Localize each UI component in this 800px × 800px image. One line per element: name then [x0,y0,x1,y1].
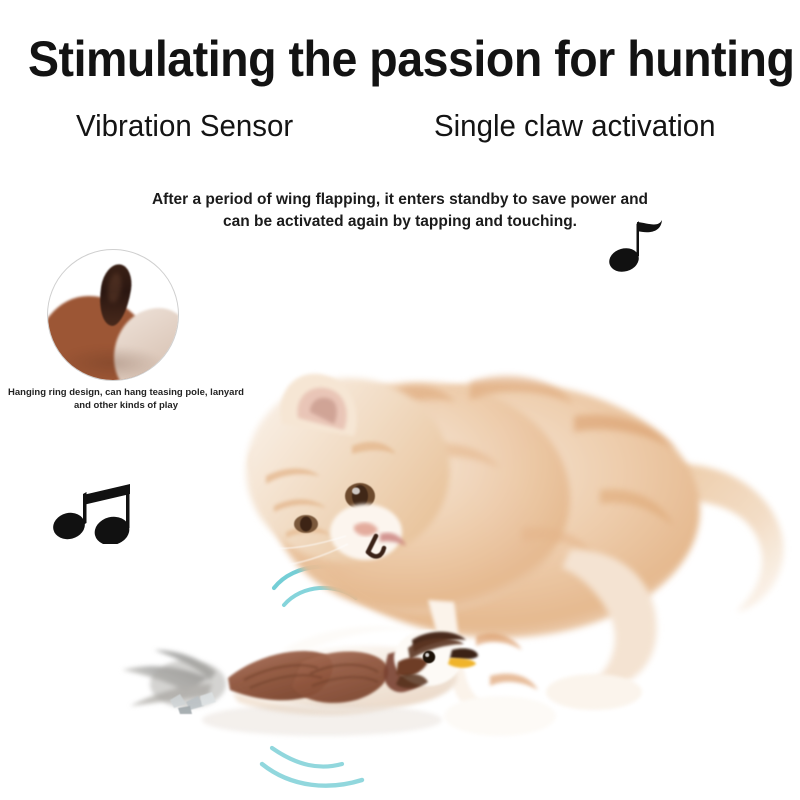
product-marketing-image: Stimulating the passion for hunting Vibr… [0,0,800,800]
hanging-ring-inset-photo [47,249,179,381]
inset-shadow [58,346,162,380]
plush-bird-toy [112,596,482,746]
feature-description: After a period of wing flapping, it ente… [150,189,650,234]
feature-heading-single-claw-activation: Single claw activation [434,108,716,144]
page-title: Stimulating the passion for hunting [28,32,772,87]
music-note-pair-icon [52,478,146,544]
music-note-icon [608,218,666,274]
feature-heading-vibration-sensor: Vibration Sensor [76,108,293,144]
